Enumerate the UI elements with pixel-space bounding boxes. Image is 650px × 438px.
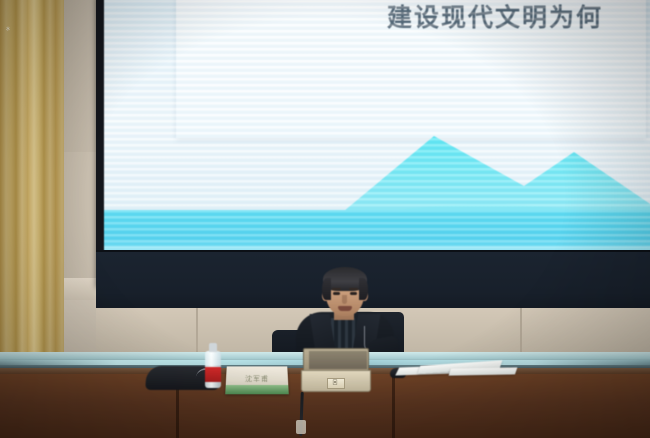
wall-seam-1 — [196, 308, 198, 356]
speaker-hair-side-left — [322, 278, 331, 300]
desk-nameplate: 沈军甫 — [225, 366, 289, 394]
water-bottle-label — [205, 367, 221, 382]
desk-nameplate-text: 沈军甫 — [226, 374, 288, 384]
cable-connector — [296, 420, 306, 434]
desk-nameplate-accent — [225, 385, 289, 394]
water-bottle — [205, 343, 221, 388]
speaker-nose — [342, 295, 347, 304]
speaker-eye-left — [333, 292, 340, 295]
speaker-brow-left — [332, 288, 341, 290]
laptop-keycap-text: 回 — [327, 379, 343, 386]
paper-documents — [398, 362, 516, 378]
speaker-mouth — [338, 306, 352, 311]
desk-panel-seam-2 — [392, 374, 395, 438]
water-bottle-cap — [209, 343, 217, 352]
speaker-hair-side-right — [359, 278, 368, 300]
projector-scanlines — [104, 0, 650, 256]
window-curtain — [0, 0, 64, 392]
screenshot-root: 建设现代文明为何 — [0, 0, 650, 438]
projection-screen: 建设现代文明为何 — [104, 0, 650, 256]
speaker-eye-right — [350, 292, 357, 295]
paper-sheet — [449, 367, 518, 375]
water-bottle-label-text: 水 — [1, 26, 15, 31]
wall-seam-3 — [520, 308, 522, 356]
laptop-lid — [303, 348, 369, 372]
laptop-screen — [309, 351, 367, 369]
speaker-brow-right — [349, 288, 358, 290]
